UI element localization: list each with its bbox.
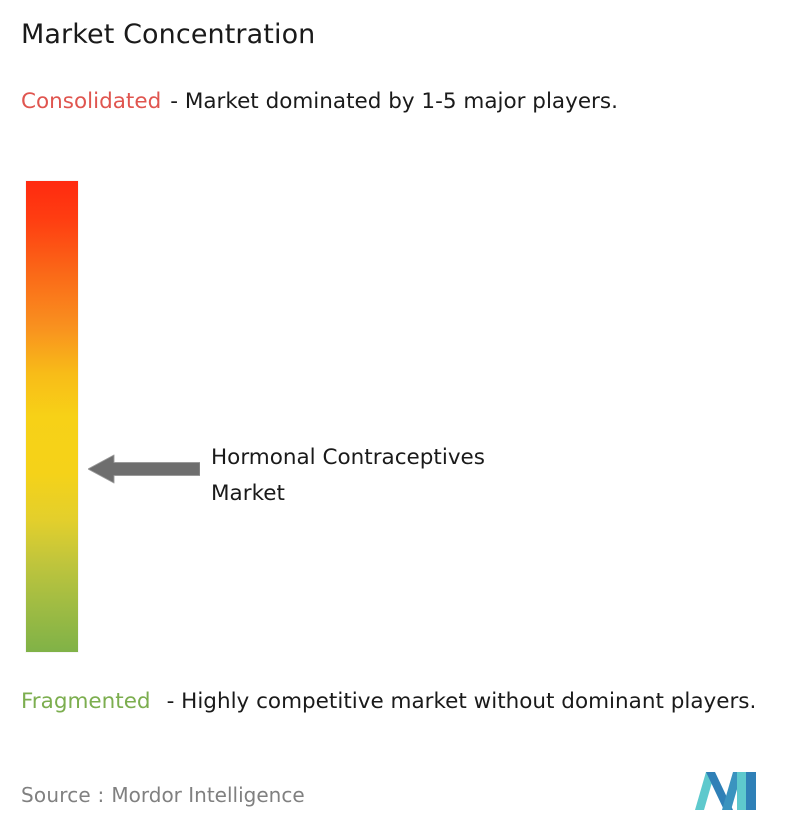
source-label: Source : (21, 783, 104, 807)
left-arrow-icon (88, 452, 200, 486)
market-concentration-scale-bar (26, 181, 78, 652)
legend-fragmented: Fragmented- Highly competitive market wi… (21, 686, 791, 717)
market-concentration-chart: Market Concentration Consolidated- Marke… (0, 0, 796, 834)
legend-fragmented-keyword: Fragmented (21, 689, 151, 714)
source-note: Source :Mordor Intelligence (21, 782, 305, 808)
page-title: Market Concentration (21, 18, 315, 52)
annotation-label-hormonal-contraceptives-market: Hormonal Contraceptives Market (211, 440, 641, 512)
legend-consolidated-keyword: Consolidated (21, 89, 161, 114)
annotation-label-line-1: Hormonal Contraceptives (211, 440, 641, 476)
legend-fragmented-description: - Highly competitive market without domi… (167, 689, 757, 714)
source-value: Mordor Intelligence (111, 783, 304, 807)
mordor-intelligence-logo-icon (694, 770, 758, 814)
annotation-label-line-2: Market (211, 476, 641, 512)
legend-consolidated-description: - Market dominated by 1-5 major players. (170, 89, 618, 114)
legend-consolidated: Consolidated- Market dominated by 1-5 ma… (21, 86, 771, 117)
